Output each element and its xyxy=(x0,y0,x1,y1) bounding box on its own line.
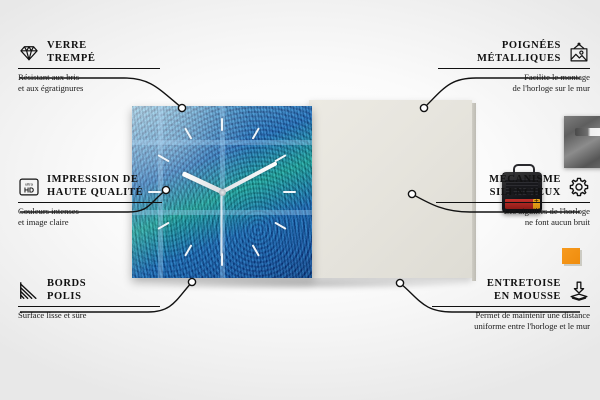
callout-impression-haute-qualite[interactable]: ultra HD IMPRESSION DE HAUTE QUALITÉ Cou… xyxy=(18,174,170,228)
callout-title: BORDS POLIS xyxy=(47,278,86,303)
polished-edge-icon xyxy=(18,280,40,302)
callout-header: ENTRETOISE EN MOUSSE xyxy=(424,278,590,303)
callout-desc: Surface lisse et sûre xyxy=(18,310,168,321)
arrow-down-pad-icon xyxy=(568,280,590,302)
callout-title: POIGNÉES MÉTALLIQUES xyxy=(477,40,561,65)
callout-rule xyxy=(436,202,590,203)
callout-title: MÉCANISME SILENCIEUX xyxy=(489,174,561,199)
callout-desc: Facilite le montage de l'horloge sur le … xyxy=(430,72,590,93)
callout-rule xyxy=(432,306,590,307)
callout-desc: Résistant aux bris et aux égratignures xyxy=(18,72,168,93)
callout-rule xyxy=(18,306,160,307)
callout-desc: Les aiguilles de l'horloge ne font aucun… xyxy=(428,206,590,227)
foam-spacer-part xyxy=(562,248,580,264)
callout-poignees-metalliques[interactable]: POIGNÉES MÉTALLIQUES Facilite le montage… xyxy=(430,40,590,94)
diamond-icon xyxy=(18,42,40,64)
callout-header: BORDS POLIS xyxy=(18,278,168,303)
clock-tick xyxy=(222,191,296,193)
hanger-slot xyxy=(575,128,600,136)
product-image xyxy=(132,100,472,285)
callout-entretoise-en-mousse[interactable]: ENTRETOISE EN MOUSSE Permet de maintenir… xyxy=(424,278,590,332)
infographic-stage: VERRE TREMPÉ Résistant aux bris et aux é… xyxy=(0,0,600,400)
ultra-hd-icon: ultra HD xyxy=(18,176,40,198)
callout-desc: Permet de maintenir une distance uniform… xyxy=(424,310,590,331)
callout-title: ENTRETOISE EN MOUSSE xyxy=(487,278,561,303)
callout-rule xyxy=(438,68,590,69)
gear-icon xyxy=(568,176,590,198)
callout-header: POIGNÉES MÉTALLIQUES xyxy=(430,40,590,65)
callout-rule xyxy=(18,68,160,69)
callout-verre-trempe[interactable]: VERRE TREMPÉ Résistant aux bris et aux é… xyxy=(18,40,168,94)
callout-mecanisme-silencieux[interactable]: MÉCANISME SILENCIEUX Les aiguilles de l'… xyxy=(428,174,590,228)
callout-title: IMPRESSION DE HAUTE QUALITÉ xyxy=(47,174,143,199)
callout-bords-polis[interactable]: BORDS POLIS Surface lisse et sûre xyxy=(18,278,168,321)
callout-header: ultra HD IMPRESSION DE HAUTE QUALITÉ xyxy=(18,174,170,199)
clock-hub xyxy=(219,189,226,196)
hanging-frame-icon xyxy=(568,42,590,64)
callout-header: MÉCANISME SILENCIEUX xyxy=(428,174,590,199)
clock-tick xyxy=(221,118,223,192)
svg-text:HD: HD xyxy=(24,187,34,194)
svg-text:ultra: ultra xyxy=(25,181,34,186)
callout-desc: Couleurs intenses et image claire xyxy=(18,206,170,227)
callout-title: VERRE TREMPÉ xyxy=(47,40,96,65)
callout-rule xyxy=(18,202,162,203)
callout-header: VERRE TREMPÉ xyxy=(18,40,168,65)
metal-hanger-part xyxy=(564,116,600,168)
